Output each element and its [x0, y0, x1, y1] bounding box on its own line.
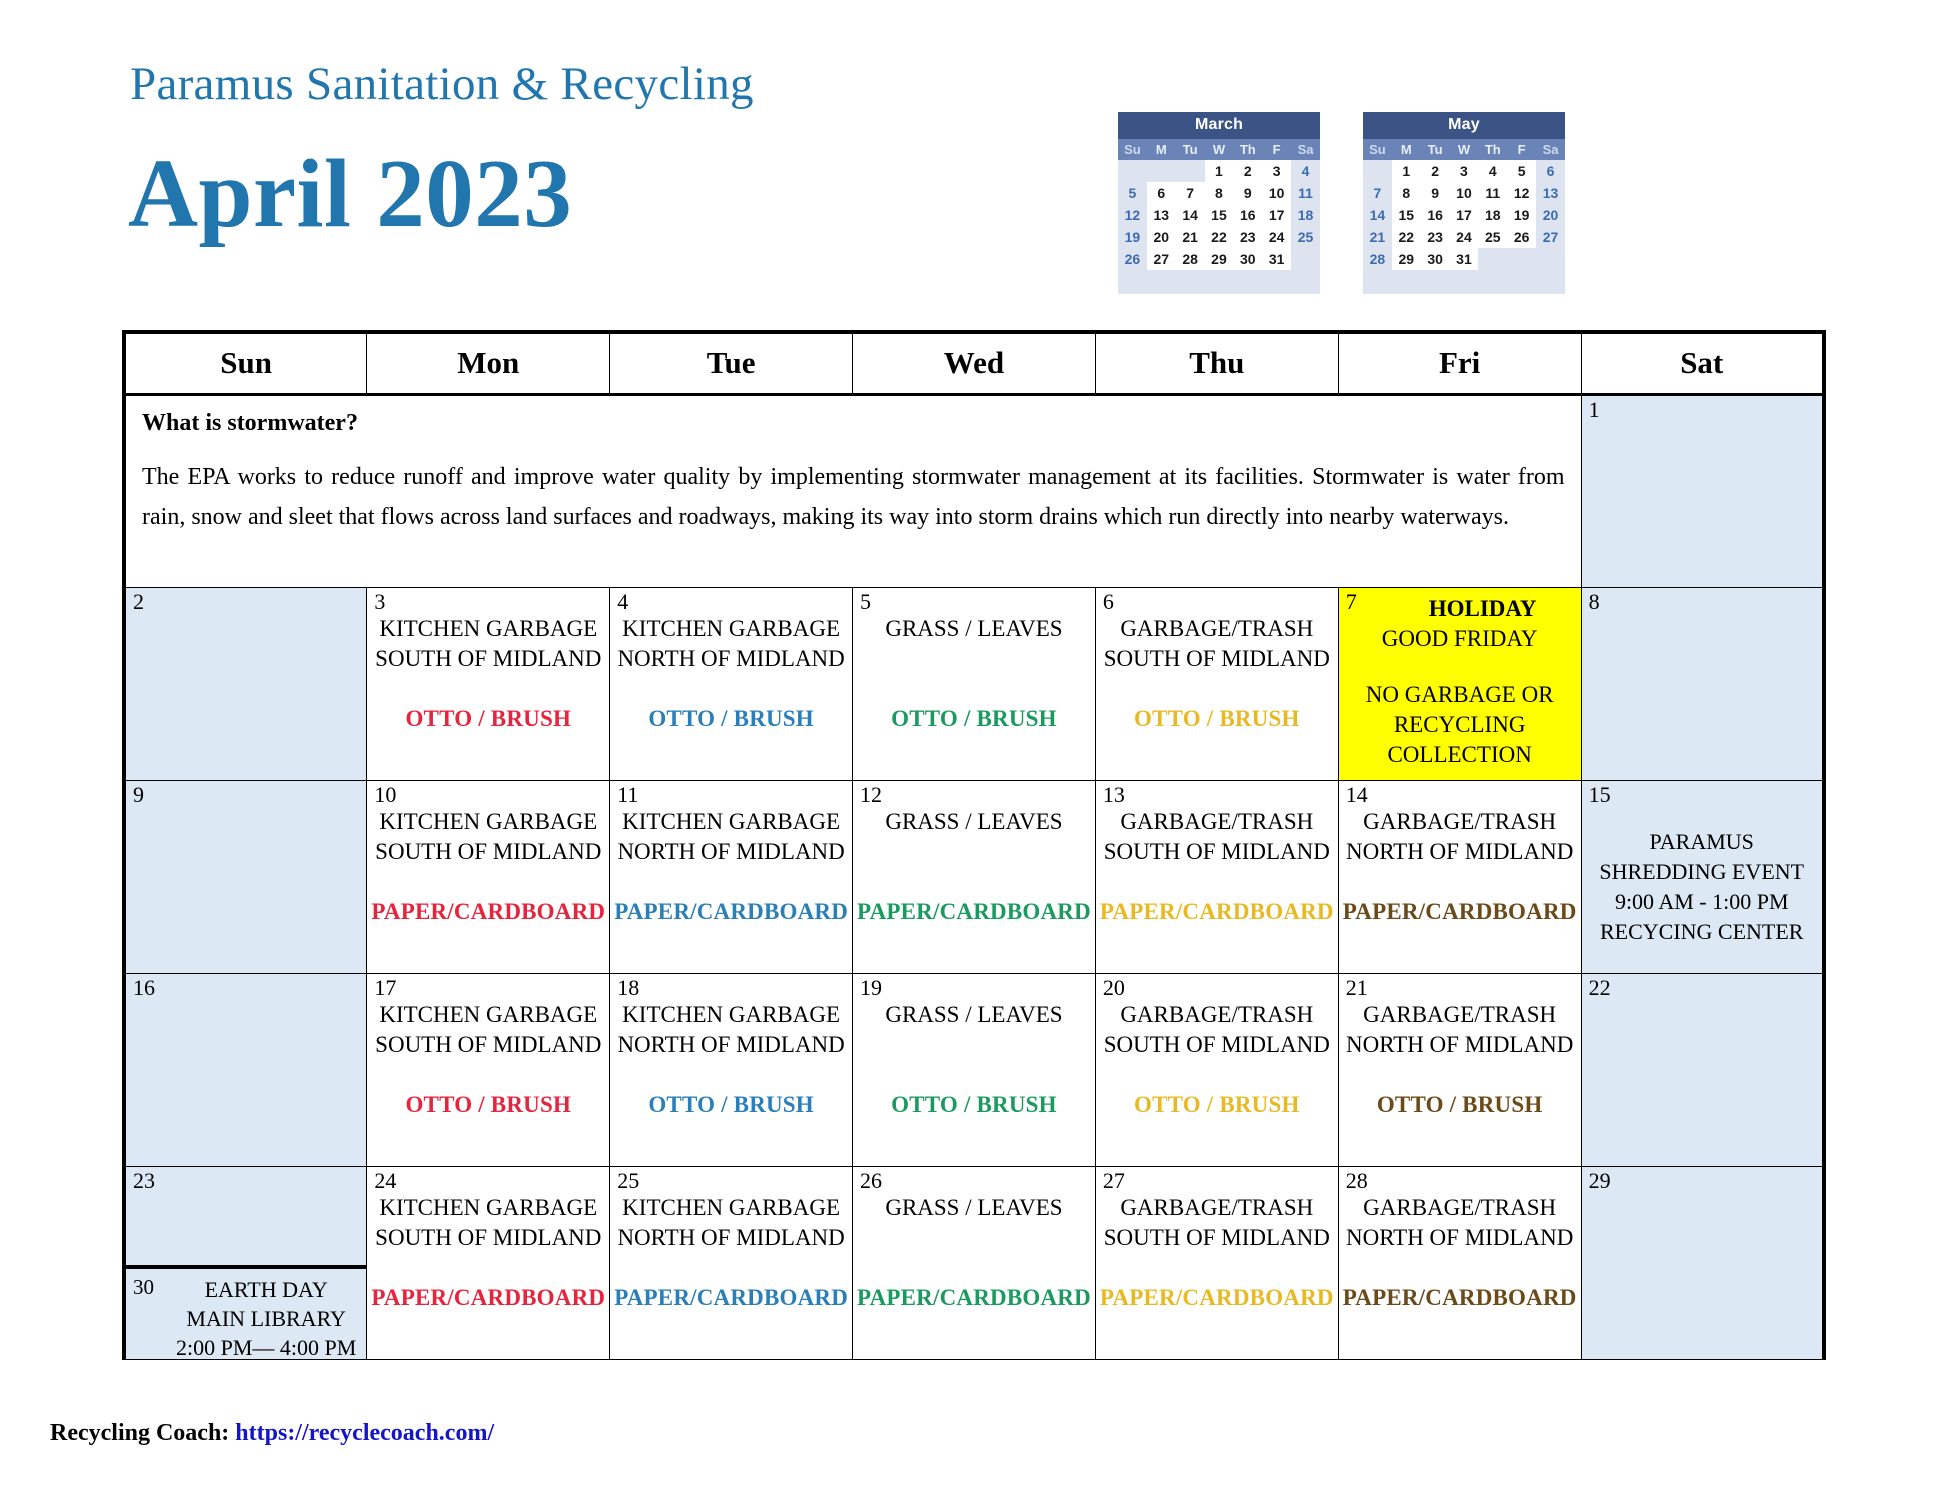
- calendar-week-row-4: 16 17 KITCHEN GARBAGE SOUTH OF MIDLAND O…: [124, 973, 1824, 1166]
- calendar-weekday-thu: Thu: [1095, 332, 1338, 394]
- material-label: OTTO / BRUSH: [614, 1090, 848, 1120]
- mini-day-cell: [1118, 160, 1147, 182]
- mini-day-cell: 5: [1507, 160, 1536, 182]
- material-label: OTTO / BRUSH: [371, 1090, 605, 1120]
- calendar-weekday-fri: Fri: [1338, 332, 1581, 394]
- day-number: 16: [133, 977, 155, 999]
- day-number: 27: [1103, 1170, 1125, 1192]
- calendar-weekday-tue: Tue: [610, 332, 853, 394]
- mini-day-cell: 26: [1118, 248, 1147, 270]
- mini-week-row: 28 29 30 31: [1363, 248, 1565, 270]
- mini-day-cell: 20: [1536, 204, 1565, 226]
- day-number: 20: [1103, 977, 1125, 999]
- holiday-badge: HOLIDAY: [1343, 594, 1577, 624]
- day-cell-26[interactable]: 26 GRASS / LEAVES PAPER/CARDBOARD: [853, 1166, 1096, 1359]
- event-line-3: 2:00 PM— 4:00 PM: [128, 1333, 364, 1362]
- day-number: 17: [374, 977, 396, 999]
- calendar-week-row-2: 2 3 KITCHEN GARBAGE SOUTH OF MIDLAND OTT…: [124, 587, 1824, 780]
- page-title: April 2023: [128, 145, 572, 242]
- service-line-1: KITCHEN GARBAGE: [614, 1000, 848, 1030]
- mini-day-cell: 6: [1147, 182, 1176, 204]
- service-line-2: NORTH OF MIDLAND: [614, 1223, 848, 1253]
- mini-weekday-f: F: [1262, 139, 1291, 160]
- service-line-1: KITCHEN GARBAGE: [614, 807, 848, 837]
- mini-week-row: 19 20 21 22 23 24 25: [1118, 226, 1320, 248]
- mini-day-cell: [1147, 160, 1176, 182]
- holiday-notice-line-1: NO GARBAGE OR: [1343, 680, 1577, 710]
- mini-weekday-su: Su: [1118, 139, 1147, 160]
- calendar-weekday-sat: Sat: [1581, 332, 1824, 394]
- day-cell-4[interactable]: 4 KITCHEN GARBAGE NORTH OF MIDLAND OTTO …: [610, 587, 853, 780]
- service-line-1: GARBAGE/TRASH: [1343, 1193, 1577, 1223]
- holiday-notice-line-3: COLLECTION: [1343, 740, 1577, 770]
- mini-calendar-footer-strip: [1363, 270, 1565, 290]
- mini-day-cell: [1536, 248, 1565, 270]
- day-cell-15[interactable]: 15 PARAMUS SHREDDING EVENT 9:00 AM - 1:0…: [1581, 780, 1824, 973]
- calendar-weekday-mon: Mon: [367, 332, 610, 394]
- calendar-weekday-header-row: Sun Mon Tue Wed Thu Fri Sat: [124, 332, 1824, 394]
- service-line-2: SOUTH OF MIDLAND: [1100, 837, 1334, 867]
- material-label: OTTO / BRUSH: [371, 704, 605, 734]
- material-label: PAPER/CARDBOARD: [1100, 1283, 1334, 1313]
- day-number: 26: [860, 1170, 882, 1192]
- day-cell-20[interactable]: 20 GARBAGE/TRASH SOUTH OF MIDLAND OTTO /…: [1095, 973, 1338, 1166]
- mini-day-cell: 10: [1450, 182, 1479, 204]
- service-line-1: GARBAGE/TRASH: [1343, 807, 1577, 837]
- organization-title: Paramus Sanitation & Recycling: [130, 57, 754, 111]
- mini-day-cell: 3: [1262, 160, 1291, 182]
- event-line-2: SHREDDING EVENT: [1586, 857, 1818, 887]
- material-label: PAPER/CARDBOARD: [371, 897, 605, 927]
- service-line-1: KITCHEN GARBAGE: [371, 807, 605, 837]
- mini-day-cell: 21: [1176, 226, 1205, 248]
- material-label: OTTO / BRUSH: [857, 1090, 1091, 1120]
- mini-weekday-w: W: [1205, 139, 1234, 160]
- mini-day-cell: 30: [1421, 248, 1450, 270]
- mini-day-cell: [1291, 248, 1320, 270]
- mini-calendar-previous-month-title: March: [1118, 112, 1320, 139]
- mini-day-cell: [1363, 160, 1392, 182]
- day-cell-23-and-30[interactable]: 23 30 EARTH DAY MAIN LIBRARY 2:00 PM— 4:…: [124, 1166, 367, 1359]
- day-cell-25[interactable]: 25 KITCHEN GARBAGE NORTH OF MIDLAND PAPE…: [610, 1166, 853, 1359]
- mini-day-cell: 15: [1205, 204, 1234, 226]
- stormwater-info-heading: What is stormwater?: [142, 410, 1565, 437]
- service-line-2: SOUTH OF MIDLAND: [371, 1223, 605, 1253]
- service-line-1: KITCHEN GARBAGE: [371, 614, 605, 644]
- holiday-notice-line-2: RECYCLING: [1343, 710, 1577, 740]
- event-line-1: EARTH DAY: [128, 1275, 364, 1304]
- mini-week-row: 5 6 7 8 9 10 11: [1118, 182, 1320, 204]
- mini-day-cell: 2: [1421, 160, 1450, 182]
- mini-weekday-th: Th: [1233, 139, 1262, 160]
- mini-day-cell: 23: [1421, 226, 1450, 248]
- service-line-2: NORTH OF MIDLAND: [1343, 1223, 1577, 1253]
- mini-week-row: 26 27 28 29 30 31: [1118, 248, 1320, 270]
- mini-day-cell: 1: [1392, 160, 1421, 182]
- event-line-4: RECYCING CENTER: [1586, 917, 1818, 947]
- mini-day-cell: 20: [1147, 226, 1176, 248]
- day-cell-1[interactable]: 1: [1581, 394, 1824, 587]
- day-number: 25: [617, 1170, 639, 1192]
- mini-weekday-th: Th: [1478, 139, 1507, 160]
- mini-day-cell: 3: [1450, 160, 1479, 182]
- material-label: PAPER/CARDBOARD: [1100, 897, 1334, 927]
- service-line-1: GARBAGE/TRASH: [1100, 807, 1334, 837]
- day-number: 30: [133, 1277, 154, 1298]
- mini-calendar-next-month-grid: Su M Tu W Th F Sa 1 2 3 4 5 6: [1363, 139, 1565, 270]
- day-number: 5: [860, 591, 871, 613]
- mini-day-cell: 1: [1205, 160, 1234, 182]
- service-line-2: NORTH OF MIDLAND: [614, 644, 848, 674]
- day-cell-24[interactable]: 24 KITCHEN GARBAGE SOUTH OF MIDLAND PAPE…: [367, 1166, 610, 1359]
- mini-day-cell: 30: [1233, 248, 1262, 270]
- service-line-1: KITCHEN GARBAGE: [371, 1000, 605, 1030]
- day-number: 3: [374, 591, 385, 613]
- day-number: 23: [133, 1170, 155, 1192]
- day-cell-23[interactable]: 23: [126, 1167, 366, 1265]
- mini-weekday-tu: Tu: [1421, 139, 1450, 160]
- mini-weekday-m: M: [1147, 139, 1176, 160]
- footer-label: Recycling Coach:: [50, 1420, 229, 1446]
- mini-day-cell: 18: [1291, 204, 1320, 226]
- mini-day-cell: 16: [1233, 204, 1262, 226]
- day-cell-30[interactable]: 30 EARTH DAY MAIN LIBRARY 2:00 PM— 4:00 …: [126, 1265, 366, 1356]
- material-label: PAPER/CARDBOARD: [371, 1283, 605, 1313]
- mini-day-cell: 22: [1392, 226, 1421, 248]
- mini-week-row: 1 2 3 4: [1118, 160, 1320, 182]
- mini-week-row: 12 13 14 15 16 17 18: [1118, 204, 1320, 226]
- mini-day-cell: 25: [1478, 226, 1507, 248]
- mini-calendar-next-month-title: May: [1363, 112, 1565, 139]
- service-line-2: NORTH OF MIDLAND: [1343, 1030, 1577, 1060]
- mini-day-cell: 28: [1176, 248, 1205, 270]
- mini-day-cell: 8: [1205, 182, 1234, 204]
- day-cell-12[interactable]: 12 GRASS / LEAVES PAPER/CARDBOARD: [853, 780, 1096, 973]
- mini-day-cell: 31: [1262, 248, 1291, 270]
- day-number: 28: [1346, 1170, 1368, 1192]
- day-number: 12: [860, 784, 882, 806]
- day-cell-6[interactable]: 6 GARBAGE/TRASH SOUTH OF MIDLAND OTTO / …: [1095, 587, 1338, 780]
- recycling-coach-link[interactable]: https://recyclecoach.com/: [235, 1420, 494, 1446]
- mini-day-cell: 26: [1507, 226, 1536, 248]
- day-number: 21: [1346, 977, 1368, 999]
- mini-day-cell: [1176, 160, 1205, 182]
- mini-day-cell: 13: [1536, 182, 1565, 204]
- service-line-1: GRASS / LEAVES: [857, 807, 1091, 837]
- service-line-2: SOUTH OF MIDLAND: [371, 644, 605, 674]
- service-line-1: GRASS / LEAVES: [857, 1000, 1091, 1030]
- mini-calendar-previous-month-grid: Su M Tu W Th F Sa 1 2 3 4: [1118, 139, 1320, 270]
- mini-day-cell: 11: [1291, 182, 1320, 204]
- mini-day-cell: 22: [1205, 226, 1234, 248]
- mini-day-cell: 15: [1392, 204, 1421, 226]
- mini-day-cell: 7: [1176, 182, 1205, 204]
- mini-day-cell: 27: [1147, 248, 1176, 270]
- material-label: PAPER/CARDBOARD: [614, 1283, 848, 1313]
- day-number: 29: [1589, 1170, 1611, 1192]
- mini-week-row: 1 2 3 4 5 6: [1363, 160, 1565, 182]
- mini-day-cell: 9: [1233, 182, 1262, 204]
- footer: Recycling Coach: https://recyclecoach.co…: [50, 1420, 494, 1447]
- mini-day-cell: 4: [1291, 160, 1320, 182]
- service-line-1: GARBAGE/TRASH: [1100, 1193, 1334, 1223]
- mini-day-cell: 14: [1176, 204, 1205, 226]
- day-cell-22[interactable]: 22: [1581, 973, 1824, 1166]
- service-line-1: KITCHEN GARBAGE: [614, 1193, 848, 1223]
- day-cell-27[interactable]: 27 GARBAGE/TRASH SOUTH OF MIDLAND PAPER/…: [1095, 1166, 1338, 1359]
- mini-day-cell: 9: [1421, 182, 1450, 204]
- mini-day-cell: 14: [1363, 204, 1392, 226]
- service-line-2: NORTH OF MIDLAND: [614, 837, 848, 867]
- mini-weekday-header-row: Su M Tu W Th F Sa: [1363, 139, 1565, 160]
- mini-day-cell: [1478, 248, 1507, 270]
- mini-day-cell: 19: [1507, 204, 1536, 226]
- holiday-name: GOOD FRIDAY: [1343, 624, 1577, 654]
- service-line-2: NORTH OF MIDLAND: [1343, 837, 1577, 867]
- material-label: OTTO / BRUSH: [1100, 704, 1334, 734]
- stormwater-info-body: The EPA works to reduce runoff and impro…: [142, 457, 1565, 537]
- material-label: OTTO / BRUSH: [614, 704, 848, 734]
- mini-weekday-sa: Sa: [1536, 139, 1565, 160]
- mini-day-cell: 17: [1450, 204, 1479, 226]
- mini-weekday-f: F: [1507, 139, 1536, 160]
- mini-day-cell: 17: [1262, 204, 1291, 226]
- day-cell-7-holiday[interactable]: 7 HOLIDAY GOOD FRIDAY NO GARBAGE OR RECY…: [1338, 587, 1581, 780]
- mini-day-cell: 6: [1536, 160, 1565, 182]
- mini-calendar-footer-strip: [1118, 270, 1320, 290]
- calendar-week-row-3: 9 10 KITCHEN GARBAGE SOUTH OF MIDLAND PA…: [124, 780, 1824, 973]
- calendar-weekday-sun: Sun: [124, 332, 367, 394]
- day-cell-11[interactable]: 11 KITCHEN GARBAGE NORTH OF MIDLAND PAPE…: [610, 780, 853, 973]
- service-line-2: [857, 1223, 1091, 1253]
- day-cell-21[interactable]: 21 GARBAGE/TRASH NORTH OF MIDLAND OTTO /…: [1338, 973, 1581, 1166]
- day-number: 7: [1346, 591, 1357, 613]
- day-number: 2: [133, 591, 144, 613]
- mini-day-cell: 18: [1478, 204, 1507, 226]
- mini-day-cell: 29: [1205, 248, 1234, 270]
- material-label: PAPER/CARDBOARD: [1343, 897, 1577, 927]
- mini-day-cell: 2: [1233, 160, 1262, 182]
- mini-day-cell: 11: [1478, 182, 1507, 204]
- service-line-2: SOUTH OF MIDLAND: [1100, 1030, 1334, 1060]
- mini-weekday-w: W: [1450, 139, 1479, 160]
- day-number: 1: [1589, 399, 1600, 421]
- day-cell-29[interactable]: 29: [1581, 1166, 1824, 1359]
- mini-day-cell: 16: [1421, 204, 1450, 226]
- monthly-calendar-grid: Sun Mon Tue Wed Thu Fri Sat What is stor…: [122, 330, 1826, 1360]
- page-header: Paramus Sanitation & Recycling April 202…: [0, 0, 1936, 330]
- mini-week-row: 21 22 23 24 25 26 27: [1363, 226, 1565, 248]
- day-number: 13: [1103, 784, 1125, 806]
- calendar-week-row-1: What is stormwater? The EPA works to red…: [124, 394, 1824, 587]
- mini-day-cell: 24: [1262, 226, 1291, 248]
- mini-day-cell: 31: [1450, 248, 1479, 270]
- service-line-2: SOUTH OF MIDLAND: [1100, 1223, 1334, 1253]
- day-cell-3[interactable]: 3 KITCHEN GARBAGE SOUTH OF MIDLAND OTTO …: [367, 587, 610, 780]
- mini-weekday-m: M: [1392, 139, 1421, 160]
- material-label: OTTO / BRUSH: [1100, 1090, 1334, 1120]
- day-number: 15: [1589, 784, 1611, 806]
- mini-day-cell: 7: [1363, 182, 1392, 204]
- day-number: 11: [617, 784, 638, 806]
- mini-day-cell: [1507, 248, 1536, 270]
- mini-day-cell: 21: [1363, 226, 1392, 248]
- mini-day-cell: 23: [1233, 226, 1262, 248]
- mini-weekday-su: Su: [1363, 139, 1392, 160]
- day-cell-5[interactable]: 5 GRASS / LEAVES OTTO / BRUSH: [853, 587, 1096, 780]
- day-number: 6: [1103, 591, 1114, 613]
- mini-day-cell: 12: [1507, 182, 1536, 204]
- day-cell-16[interactable]: 16: [124, 973, 367, 1166]
- day-cell-2[interactable]: 2: [124, 587, 367, 780]
- material-label: OTTO / BRUSH: [1343, 1090, 1577, 1120]
- mini-day-cell: 8: [1392, 182, 1421, 204]
- mini-weekday-header-row: Su M Tu W Th F Sa: [1118, 139, 1320, 160]
- service-line-1: GARBAGE/TRASH: [1100, 1000, 1334, 1030]
- day-number: 10: [374, 784, 396, 806]
- day-cell-14[interactable]: 14 GARBAGE/TRASH NORTH OF MIDLAND PAPER/…: [1338, 780, 1581, 973]
- mini-day-cell: 28: [1363, 248, 1392, 270]
- service-line-2: [857, 837, 1091, 867]
- mini-weekday-tu: Tu: [1176, 139, 1205, 160]
- event-line-3: 9:00 AM - 1:00 PM: [1586, 887, 1818, 917]
- mini-day-cell: 10: [1262, 182, 1291, 204]
- service-line-2: NORTH OF MIDLAND: [614, 1030, 848, 1060]
- material-label: PAPER/CARDBOARD: [857, 1283, 1091, 1313]
- day-cell-18[interactable]: 18 KITCHEN GARBAGE NORTH OF MIDLAND OTTO…: [610, 973, 853, 1166]
- day-cell-19[interactable]: 19 GRASS / LEAVES OTTO / BRUSH: [853, 973, 1096, 1166]
- material-label: OTTO / BRUSH: [857, 704, 1091, 734]
- calendar-week-row-5: 23 30 EARTH DAY MAIN LIBRARY 2:00 PM— 4:…: [124, 1166, 1824, 1359]
- mini-day-cell: 25: [1291, 226, 1320, 248]
- calendar-weekday-wed: Wed: [853, 332, 1096, 394]
- service-line-1: KITCHEN GARBAGE: [614, 614, 848, 644]
- mini-day-cell: 12: [1118, 204, 1147, 226]
- day-number: 19: [860, 977, 882, 999]
- mini-day-cell: 29: [1392, 248, 1421, 270]
- mini-calendar-next-month: May Su M Tu W Th F Sa 1 2 3: [1363, 112, 1565, 294]
- day-cell-9[interactable]: 9: [124, 780, 367, 973]
- material-label: PAPER/CARDBOARD: [1343, 1283, 1577, 1313]
- mini-day-cell: 5: [1118, 182, 1147, 204]
- mini-day-cell: 24: [1450, 226, 1479, 248]
- service-line-1: GARBAGE/TRASH: [1100, 614, 1334, 644]
- day-cell-17[interactable]: 17 KITCHEN GARBAGE SOUTH OF MIDLAND OTTO…: [367, 973, 610, 1166]
- service-line-2: SOUTH OF MIDLAND: [371, 1030, 605, 1060]
- stormwater-info-cell: What is stormwater? The EPA works to red…: [124, 394, 1581, 587]
- event-line-2: MAIN LIBRARY: [128, 1304, 364, 1333]
- material-label: PAPER/CARDBOARD: [857, 897, 1091, 927]
- day-number: 18: [617, 977, 639, 999]
- day-cell-8[interactable]: 8: [1581, 587, 1824, 780]
- day-cell-10[interactable]: 10 KITCHEN GARBAGE SOUTH OF MIDLAND PAPE…: [367, 780, 610, 973]
- service-line-1: KITCHEN GARBAGE: [371, 1193, 605, 1223]
- service-line-2: SOUTH OF MIDLAND: [371, 837, 605, 867]
- day-number: 8: [1589, 591, 1600, 613]
- day-number: 9: [133, 784, 144, 806]
- mini-day-cell: 19: [1118, 226, 1147, 248]
- mini-week-row: 7 8 9 10 11 12 13: [1363, 182, 1565, 204]
- day-number: 4: [617, 591, 628, 613]
- day-number: 22: [1589, 977, 1611, 999]
- mini-calendar-previous-month: March Su M Tu W Th F Sa 1: [1118, 112, 1320, 294]
- mini-day-cell: 27: [1536, 226, 1565, 248]
- service-line-2: [857, 1030, 1091, 1060]
- service-line-1: GRASS / LEAVES: [857, 1193, 1091, 1223]
- service-line-2: [857, 644, 1091, 674]
- event-line-1: PARAMUS: [1586, 827, 1818, 857]
- day-number: 24: [374, 1170, 396, 1192]
- day-cell-13[interactable]: 13 GARBAGE/TRASH SOUTH OF MIDLAND PAPER/…: [1095, 780, 1338, 973]
- mini-day-cell: 13: [1147, 204, 1176, 226]
- mini-weekday-sa: Sa: [1291, 139, 1320, 160]
- day-number: 14: [1346, 784, 1368, 806]
- service-line-1: GRASS / LEAVES: [857, 614, 1091, 644]
- mini-week-row: 14 15 16 17 18 19 20: [1363, 204, 1565, 226]
- mini-day-cell: 4: [1478, 160, 1507, 182]
- service-line-1: GARBAGE/TRASH: [1343, 1000, 1577, 1030]
- material-label: PAPER/CARDBOARD: [614, 897, 848, 927]
- day-cell-28[interactable]: 28 GARBAGE/TRASH NORTH OF MIDLAND PAPER/…: [1338, 1166, 1581, 1359]
- service-line-2: SOUTH OF MIDLAND: [1100, 644, 1334, 674]
